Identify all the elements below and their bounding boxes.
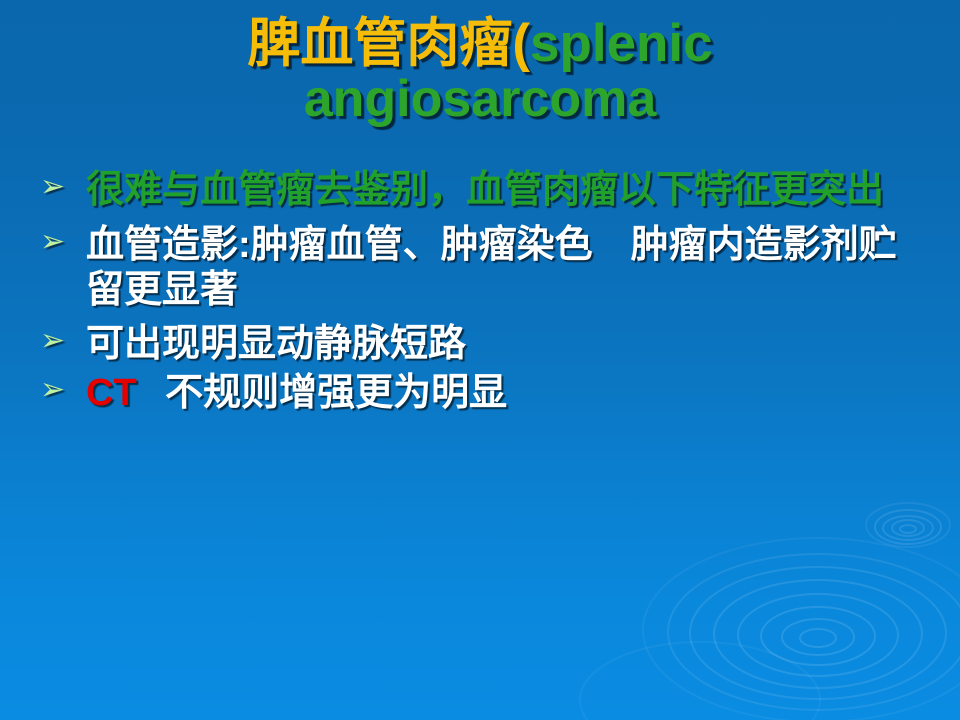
title-english-2: angiosarcoma [304,70,657,128]
bullet-arrow-icon: ➢ [40,168,86,202]
title-line-1: 脾血管肉瘤(splenic [0,16,960,72]
list-item: ➢ 血管造影:肿瘤血管、肿瘤染色 肿瘤内造影剂贮留更显著 [40,223,930,313]
list-item: ➢ 很难与血管瘤去鉴别，血管肉瘤以下特征更突出 [40,168,930,213]
bullet-2-text: 血管造影:肿瘤血管、肿瘤染色 肿瘤内造影剂贮留更显著 [86,223,930,313]
slide-title: 脾血管肉瘤(splenic angiosarcoma [0,16,960,127]
bullet-3-text: 可出现明显动静脉短路 [86,322,930,367]
bullet-4-prefix-ct: CT [86,372,137,414]
bullet-arrow-icon: ➢ [40,223,86,257]
bullet-4-text: CT不规则增强更为明显 [86,371,930,416]
title-english-1: splenic [530,14,713,73]
title-chinese: 脾血管肉瘤 [247,14,512,73]
bullet-4-body: 不规则增强更为明显 [165,372,507,414]
title-open-paren: ( [512,14,530,73]
bullet-arrow-icon: ➢ [40,371,86,405]
bullet-1-text: 很难与血管瘤去鉴别，血管肉瘤以下特征更突出 [86,168,930,213]
bullet-arrow-icon: ➢ [40,322,86,356]
bullet-list: ➢ 很难与血管瘤去鉴别，血管肉瘤以下特征更突出 ➢ 血管造影:肿瘤血管、肿瘤染色… [40,168,930,420]
presentation-slide: 脾血管肉瘤(splenic angiosarcoma ➢ 很难与血管瘤去鉴别，血… [0,0,960,720]
title-line-2: angiosarcoma [0,72,960,127]
list-item: ➢ CT不规则增强更为明显 [40,371,930,416]
list-item: ➢ 可出现明显动静脉短路 [40,322,930,367]
